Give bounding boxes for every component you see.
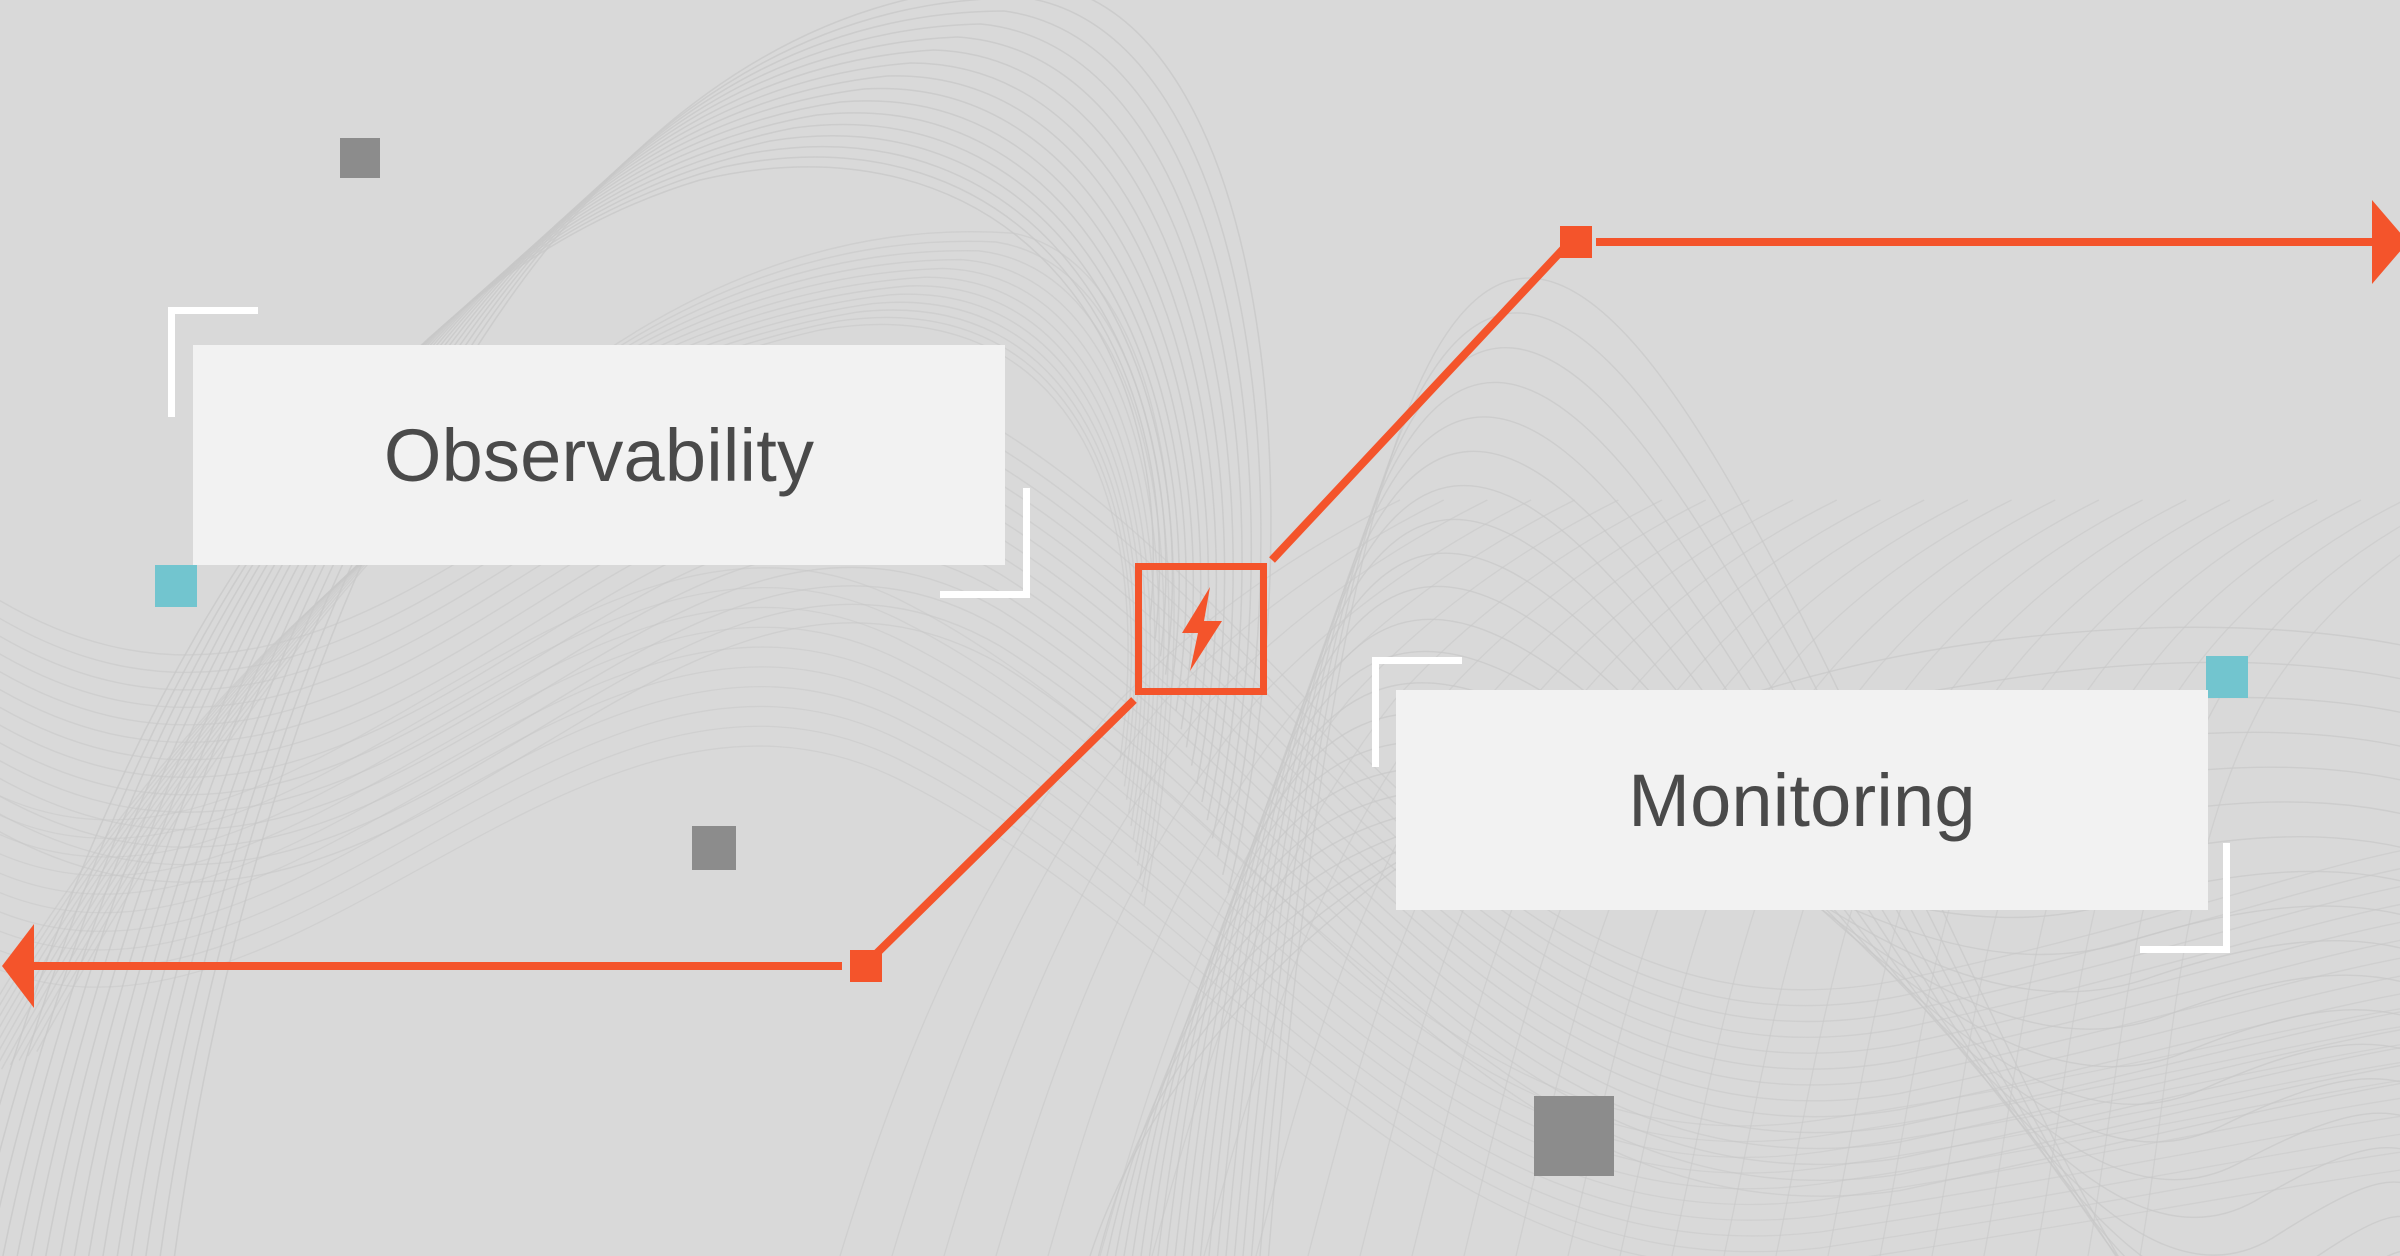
gray-square-top-left bbox=[340, 138, 380, 178]
bracket-line-horizontal bbox=[2140, 946, 2230, 953]
card-monitoring-label: Monitoring bbox=[1628, 758, 1976, 843]
card-monitoring[interactable]: Monitoring bbox=[1396, 690, 2208, 910]
card-observability[interactable]: Observability bbox=[193, 345, 1005, 565]
card-observability-label: Observability bbox=[384, 413, 814, 498]
bracket-line-horizontal bbox=[1372, 657, 1462, 664]
gray-square-mid-left bbox=[692, 826, 736, 870]
lightning-node[interactable] bbox=[1135, 563, 1267, 695]
connector-diagonal-upper bbox=[1272, 246, 1566, 560]
gray-square-bottom-right bbox=[1534, 1096, 1614, 1176]
bracket-line-horizontal bbox=[940, 591, 1030, 598]
bracket-line-vertical bbox=[1372, 657, 1379, 767]
bracket-line-vertical bbox=[1023, 488, 1030, 598]
bracket-line-horizontal bbox=[168, 307, 258, 314]
slide-canvas: Observability Monitoring bbox=[0, 0, 2400, 1256]
connector-node-square-upper[interactable] bbox=[1560, 226, 1592, 258]
arrow-left-icon bbox=[2, 924, 34, 1008]
connector-node-square-lower[interactable] bbox=[850, 950, 882, 982]
lightning-bolt-icon bbox=[1174, 587, 1228, 671]
connector-diagonal-lower bbox=[874, 700, 1134, 956]
connector-bottom-left bbox=[2, 700, 1134, 1008]
teal-square-monitoring bbox=[2206, 656, 2248, 698]
bracket-line-vertical bbox=[2223, 843, 2230, 953]
connector-top-right bbox=[1272, 200, 2400, 560]
bracket-line-vertical bbox=[168, 307, 175, 417]
teal-square-observability bbox=[155, 565, 197, 607]
arrow-right-icon bbox=[2372, 200, 2400, 284]
